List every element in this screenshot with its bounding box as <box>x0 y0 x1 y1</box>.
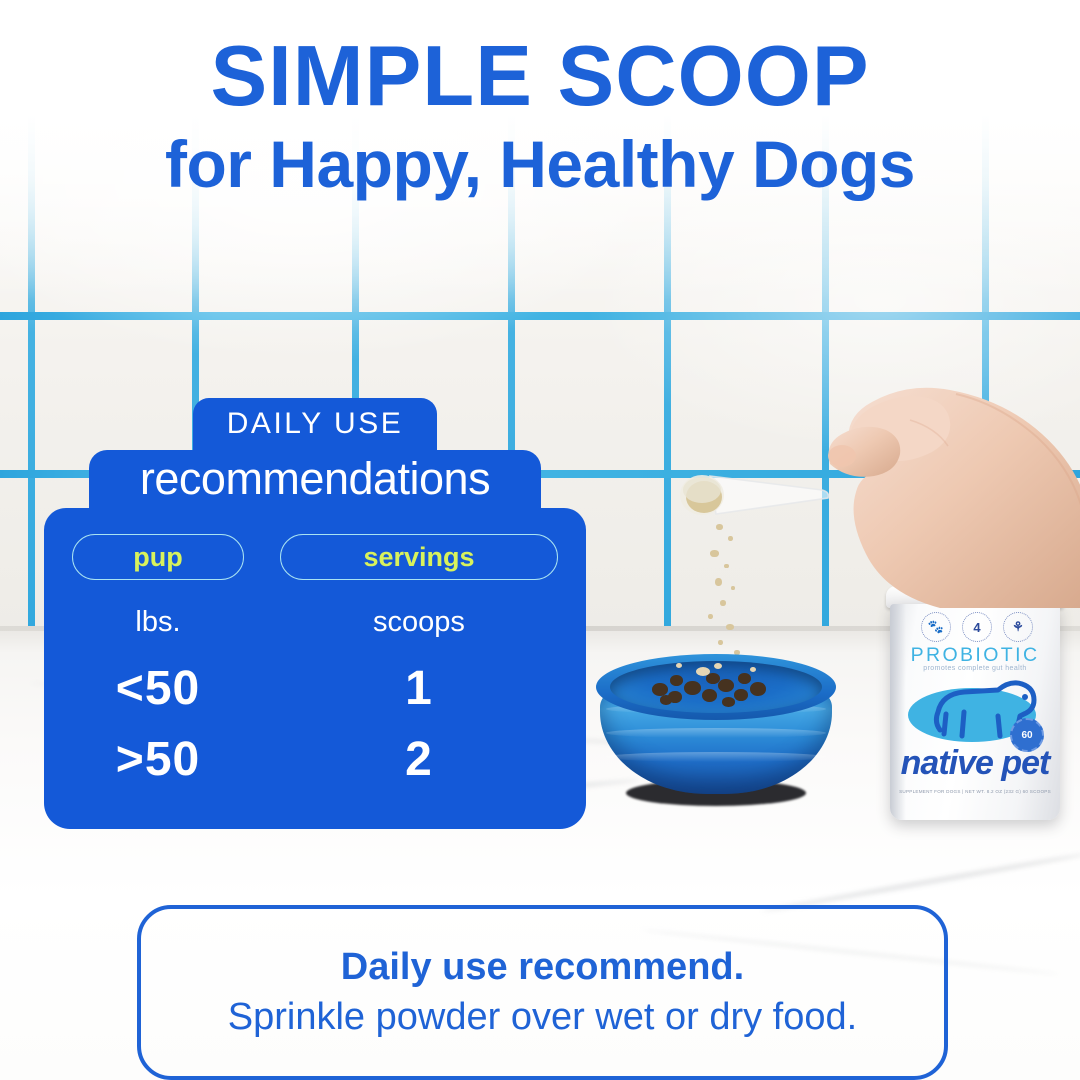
headline: SIMPLE SCOOP for Happy, Healthy Dogs <box>0 34 1080 203</box>
table-header-row: lbs. scoops <box>72 600 558 653</box>
bowl-rib <box>606 752 826 762</box>
table-row: >50 2 <box>72 724 558 795</box>
hand <box>790 368 1080 608</box>
pill-servings: servings <box>280 534 558 580</box>
row-scoops: 1 <box>280 653 558 724</box>
bowl-interior <box>610 661 822 713</box>
usage-note-box: Daily use recommend. Sprinkle powder ove… <box>137 905 948 1080</box>
usage-note-line-2: Sprinkle powder over wet or dry food. <box>228 994 857 1040</box>
product-tagline: promotes complete gut health <box>890 665 1060 672</box>
row-weight: >50 <box>72 724 244 795</box>
card-title: recommendations <box>89 450 541 508</box>
paw-badge-icon: 🐾 <box>921 612 951 642</box>
dosage-table: lbs. scoops <50 1 >50 2 <box>72 600 558 795</box>
pill-pup: pup <box>72 534 244 580</box>
product-infographic: 🐾 4 ⚘ PROBIOTIC promotes complete gut he… <box>0 0 1080 1080</box>
shield-badge-icon: ⚘ <box>1003 612 1033 642</box>
four-strains-badge-icon: 4 <box>962 612 992 642</box>
card-tab: DAILY USE <box>193 398 437 450</box>
unit-lbs: lbs. <box>72 600 244 653</box>
usage-note-line-1: Daily use recommend. <box>341 945 744 990</box>
grout-line-horizontal <box>0 312 1080 320</box>
table-row: <50 1 <box>72 653 558 724</box>
row-scoops: 2 <box>280 724 558 795</box>
headline-line-2: for Happy, Healthy Dogs <box>0 127 1080 203</box>
card-body: pup servings lbs. scoops <50 1 >50 2 <box>44 508 586 829</box>
row-weight: <50 <box>72 653 244 724</box>
dog-bowl <box>596 648 836 806</box>
column-pill-row: pup servings <box>72 534 558 580</box>
certification-badges: 🐾 4 ⚘ <box>902 612 1052 642</box>
brand-name: native pet <box>890 744 1060 783</box>
headline-line-1: SIMPLE SCOOP <box>0 34 1080 119</box>
product-title: PROBIOTIC <box>890 644 1060 667</box>
product-fine-print: SUPPLEMENT FOR DOGS | NET WT. 8.2 OZ (23… <box>890 789 1060 794</box>
unit-scoops: scoops <box>280 600 558 653</box>
daily-use-card: DAILY USE recommendations pup servings l… <box>44 398 586 829</box>
bowl-rib <box>606 728 826 738</box>
